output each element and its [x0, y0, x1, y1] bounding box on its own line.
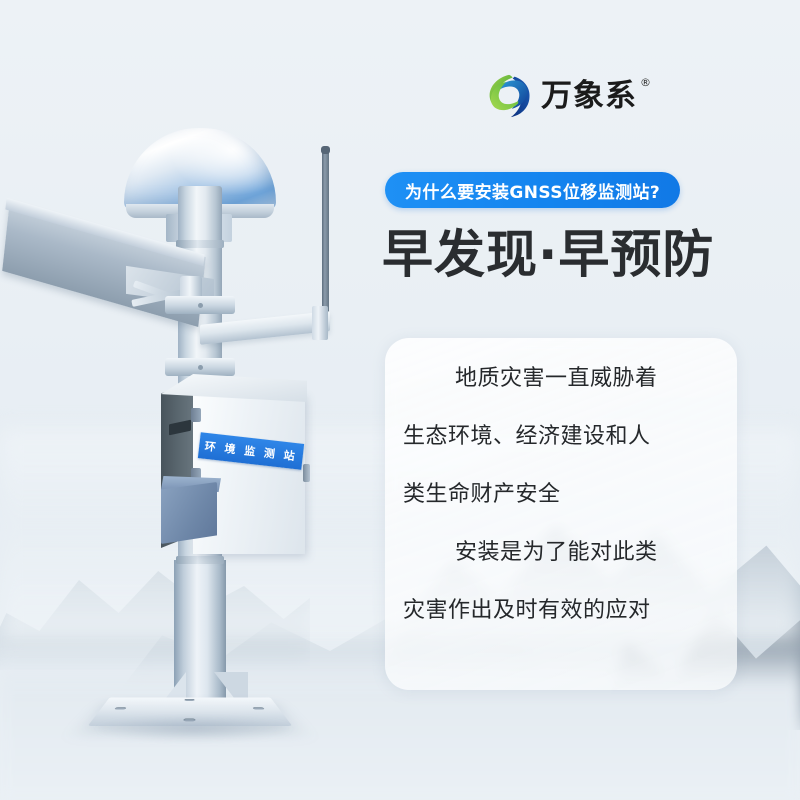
poster-canvas: 环 境 监 测 站: [0, 0, 800, 800]
base-bolt-hole-left: [114, 707, 126, 709]
description-panel: 地质灾害一直威胁着生态环境、经济建设和人类生命财产安全安装是为了能对此类灾害作出…: [385, 338, 737, 690]
description-line: 灾害作出及时有效的应对: [403, 600, 719, 622]
cross-arm-end-clamp: [312, 306, 328, 340]
question-badge[interactable]: 为什么要安装GNSS位移监测站?: [385, 172, 680, 208]
swirl-globe-icon: [486, 73, 532, 119]
description-line: 生态环境、经济建设和人: [403, 426, 719, 448]
description-line: 类生命财产安全: [403, 484, 719, 506]
whip-antenna-tip: [321, 146, 330, 154]
question-badge-text: 为什么要安装GNSS位移监测站?: [405, 178, 660, 203]
cabinet-hinge-top: [191, 408, 201, 422]
base-bolt-hole-back: [184, 699, 194, 701]
whip-antenna: [322, 150, 329, 322]
mast-clamp-upper: [165, 296, 235, 314]
brand-wordmark: 万象系 ®: [541, 81, 637, 112]
cabinet-latch: [303, 464, 310, 482]
brand-wordmark-text: 万象系: [541, 78, 637, 114]
description-line: 地质灾害一直威胁着: [403, 368, 719, 390]
base-bolt-hole-right: [252, 707, 264, 709]
solar-panel-assembly: [6, 222, 226, 342]
cabinet-louver: [161, 482, 217, 544]
description-line: 安装是为了能对此类: [403, 542, 719, 564]
brand-logo: 万象系 ®: [486, 68, 666, 124]
cabinet-label-text: 环 境 监 测 站: [204, 438, 298, 464]
monitoring-station-illustration: 环 境 监 测 站: [0, 0, 400, 800]
registered-trademark-icon: ®: [640, 77, 652, 88]
equipment-cabinet: 环 境 监 测 站: [155, 372, 325, 567]
base-shadow: [96, 716, 292, 742]
page-title: 早发现·早预防: [382, 228, 782, 284]
